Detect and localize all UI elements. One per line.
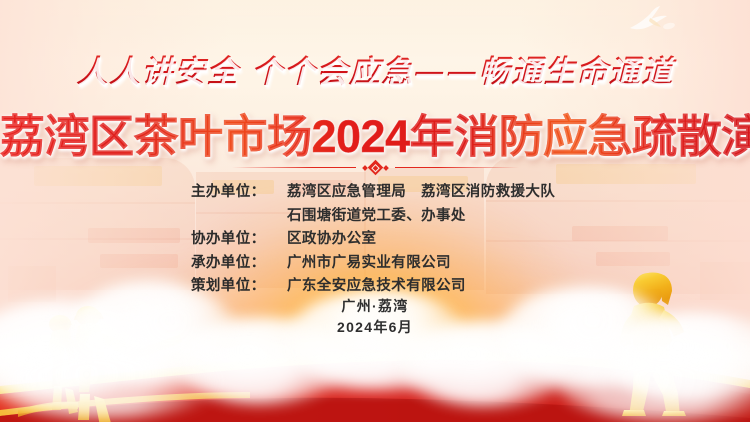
organizer-list: 主办单位： 荔湾区应急管理局 荔湾区消防救援大队 主办单位： 石围塘街道党工委、… bbox=[0, 180, 750, 298]
organizer-row-host-continued: 主办单位： 石围塘街道党工委、办事处 bbox=[191, 204, 559, 225]
organizer-label-coorganizer: 协办单位： bbox=[191, 227, 287, 248]
poster-main-title: 荔湾区茶叶市场2024年消防应急疏散演练 bbox=[0, 100, 750, 165]
divider-line-left bbox=[232, 167, 356, 169]
diamond-icon bbox=[367, 160, 383, 176]
poster-root: 人人讲安全 个个会应急——畅通生命通道 荔湾区茶叶市场2024年消防应急疏散演练… bbox=[0, 0, 750, 422]
organizer-row-planner: 策划单位： 广东全安应急技术有限公司 bbox=[191, 274, 559, 295]
organizer-value-host-continued: 石围塘街道党工委、办事处 bbox=[287, 204, 466, 225]
organizer-label-planner: 策划单位： bbox=[191, 274, 287, 295]
poster-content: 人人讲安全 个个会应急——畅通生命通道 荔湾区茶叶市场2024年消防应急疏散演练… bbox=[0, 0, 750, 422]
organizer-value-host: 荔湾区应急管理局 荔湾区消防救援大队 bbox=[287, 180, 555, 201]
organizer-row-host: 主办单位： 荔湾区应急管理局 荔湾区消防救援大队 bbox=[191, 180, 559, 201]
divider-line-right bbox=[395, 167, 519, 169]
divider-dot-left bbox=[362, 165, 368, 171]
organizer-row-coorganizer: 协办单位： 区政协办公室 bbox=[191, 227, 559, 248]
decorative-divider bbox=[0, 162, 750, 173]
footer-location: 广州·荔湾 bbox=[0, 296, 750, 317]
organizer-value-planner: 广东全安应急技术有限公司 bbox=[287, 274, 466, 295]
organizer-value-coorganizer: 区政协办公室 bbox=[287, 227, 376, 248]
footer-date: 2024年6月 bbox=[0, 317, 750, 338]
poster-subtitle: 人人讲安全 个个会应急——畅通生命通道 bbox=[0, 46, 750, 91]
organizer-value-undertaker: 广州市广易实业有限公司 bbox=[287, 251, 451, 272]
organizer-row-undertaker: 承办单位： 广州市广易实业有限公司 bbox=[191, 251, 559, 272]
poster-footer: 广州·荔湾 2024年6月 bbox=[0, 296, 750, 338]
organizer-label-undertaker: 承办单位： bbox=[191, 251, 287, 272]
divider-dot-right bbox=[383, 165, 389, 171]
organizer-label-host: 主办单位： bbox=[191, 180, 287, 201]
divider-ornament bbox=[356, 162, 395, 173]
